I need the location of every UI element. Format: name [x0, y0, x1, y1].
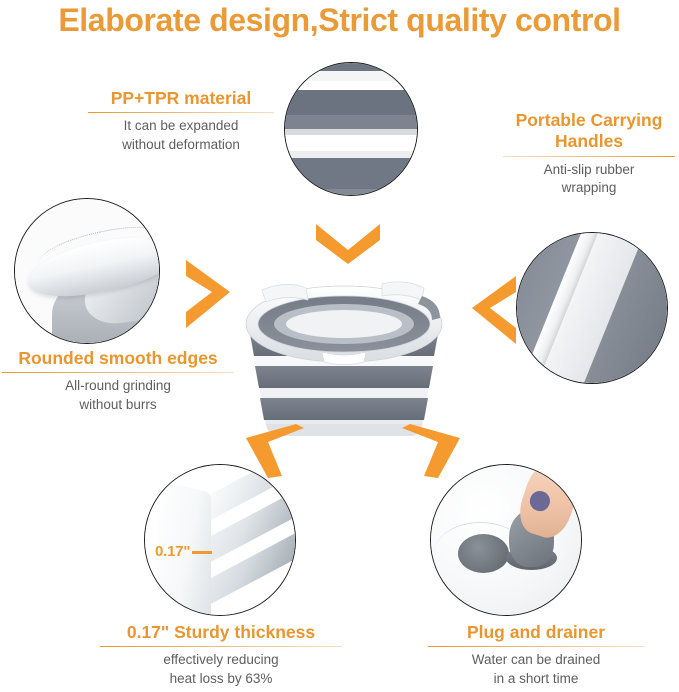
feature-description-handles: Anti-slip rubber wrapping	[503, 161, 675, 197]
feature-description-edges: All-round grinding without burrs	[2, 377, 234, 413]
feature-divider-handles	[503, 156, 675, 157]
feature-block-edges: Rounded smooth edges All-round grinding …	[2, 348, 234, 414]
thickness-illustration	[145, 465, 295, 615]
detail-image-plug-drainer	[430, 464, 582, 616]
handle-illustration	[517, 233, 667, 383]
feature-heading-plug: Plug and drainer	[428, 622, 644, 643]
feature-heading-material: PP+TPR material	[88, 88, 274, 109]
measure-tick-icon	[192, 551, 212, 554]
feature-description-plug: Water can be drained in a short time	[428, 651, 644, 687]
arrow-down-icon	[312, 218, 384, 264]
product-image-collapsible-basket	[226, 266, 462, 446]
drain-hole-shape	[458, 534, 509, 573]
feature-block-handles: Portable Carrying Handles Anti-slip rubb…	[503, 110, 675, 197]
feature-divider-plug	[428, 646, 644, 647]
thickness-callout-label: 0.17"	[155, 543, 212, 560]
product-feature-infographic: Elaborate design,Strict quality control	[0, 0, 679, 692]
thickness-callout-value: 0.17"	[155, 543, 190, 560]
feature-description-material: It can be expanded without deformation	[88, 117, 274, 153]
feature-block-material: PP+TPR material It can be expanded witho…	[88, 88, 274, 154]
feature-block-thickness: 0.17" Sturdy thickness effectively reduc…	[100, 622, 342, 688]
striped-material-texture	[284, 62, 418, 196]
feature-heading-handles: Portable Carrying Handles	[503, 110, 675, 153]
feature-block-plug: Plug and drainer Water can be drained in…	[428, 622, 644, 688]
detail-image-material	[284, 62, 418, 196]
feature-description-thickness: effectively reducing heat loss by 63%	[100, 651, 342, 687]
feature-heading-thickness: 0.17" Sturdy thickness	[100, 622, 342, 643]
arrow-left-icon	[466, 272, 524, 348]
detail-image-handle	[516, 232, 668, 384]
arrow-down-right-icon	[398, 424, 468, 480]
plug-illustration	[431, 465, 581, 615]
feature-divider-thickness	[100, 646, 342, 647]
feature-heading-edges: Rounded smooth edges	[2, 348, 234, 369]
page-title: Elaborate design,Strict quality control	[0, 2, 679, 39]
detail-image-thickness: 0.17"	[144, 464, 296, 616]
feature-divider-edges	[2, 372, 234, 373]
arrow-right-icon	[178, 256, 236, 332]
feature-divider-material	[88, 112, 274, 113]
arrow-down-left-icon	[238, 424, 308, 480]
detail-image-rounded-edges	[14, 198, 160, 344]
rounded-rim-illustration	[15, 199, 159, 343]
